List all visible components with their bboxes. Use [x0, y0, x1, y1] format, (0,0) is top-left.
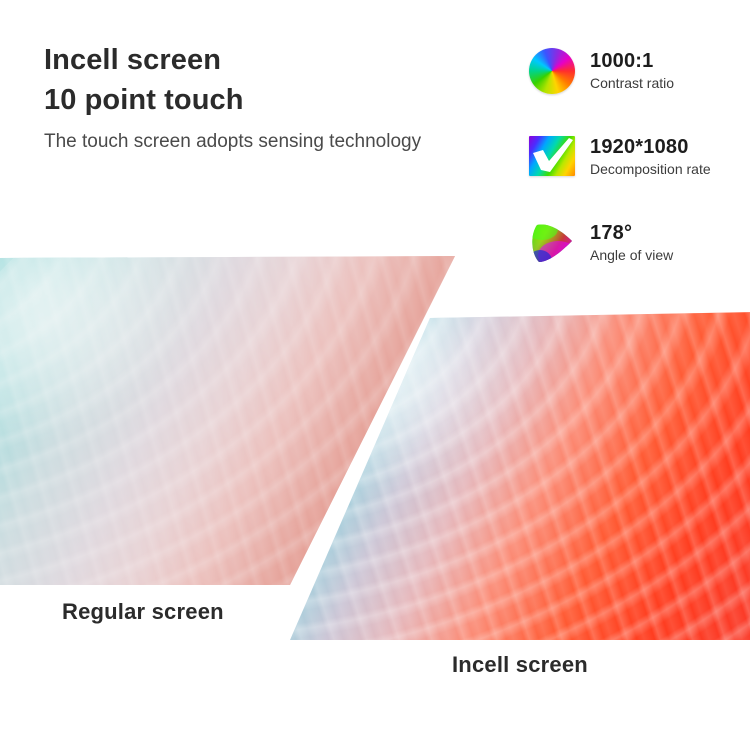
color-wheel-icon: [528, 46, 578, 96]
feature-item-decomposition-rate: 1920*1080 Decomposition rate: [528, 126, 743, 188]
feature-text-block: 1000:1 Contrast ratio: [590, 50, 674, 93]
headline-line-1: Incell screen: [44, 40, 514, 80]
feature-item-angle-of-view: 178° Angle of view: [528, 212, 743, 274]
incell-screen-caption: Incell screen: [452, 652, 588, 678]
headline-subtitle: The touch screen adopts sensing technolo…: [44, 129, 514, 155]
product-feature-banner: Incell screen 10 point touch The touch s…: [0, 0, 750, 750]
feature-text-block: 1920*1080 Decomposition rate: [590, 136, 711, 179]
feature-value: 1920*1080: [590, 136, 711, 159]
color-gamut-icon: [528, 218, 578, 268]
feature-label: Decomposition rate: [590, 160, 711, 179]
headline-block: Incell screen 10 point touch The touch s…: [44, 40, 514, 155]
feature-text-block: 178° Angle of view: [590, 222, 673, 265]
regular-screen-caption: Regular screen: [62, 599, 224, 625]
feature-value: 178°: [590, 222, 673, 245]
feature-spec-list: 1000:1 Contrast ratio 1920*1080 Decompos…: [528, 40, 743, 298]
headline-line-2: 10 point touch: [44, 80, 514, 120]
feature-label: Contrast ratio: [590, 74, 674, 93]
rainbow-check-icon: [528, 132, 578, 182]
feature-value: 1000:1: [590, 50, 674, 73]
feature-item-contrast-ratio: 1000:1 Contrast ratio: [528, 40, 743, 102]
feature-label: Angle of view: [590, 246, 673, 265]
